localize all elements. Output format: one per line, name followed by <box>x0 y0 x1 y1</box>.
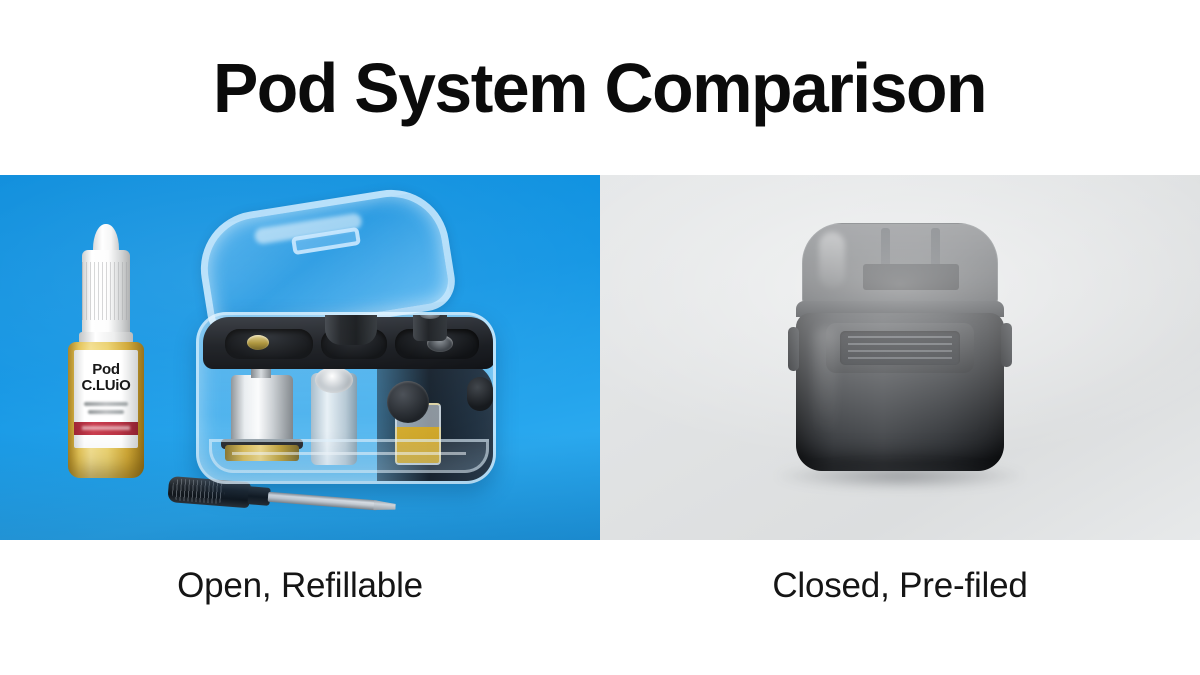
e-liquid-bottle: Pod C.LUiO <box>60 250 152 478</box>
bottle-label-warning-band <box>74 422 138 435</box>
panel-closed-prefiled <box>600 175 1200 540</box>
atomizer-top-cap <box>315 367 353 393</box>
title-bar: Pod System Comparison <box>0 0 1200 175</box>
side-button <box>467 377 493 411</box>
side-button-right <box>1001 323 1012 367</box>
fire-button <box>387 381 429 423</box>
pod-body-black <box>796 313 1004 471</box>
comparison-image-band: Pod C.LUiO <box>0 175 1200 540</box>
cap-inner-block <box>863 264 959 290</box>
caption-right: Closed, Pre-filed <box>600 540 1200 675</box>
caption-right-text: Closed, Pre-filed <box>772 566 1027 606</box>
caption-left: Open, Refillable <box>0 540 600 675</box>
secondary-post <box>413 312 447 341</box>
black-pod-device-closed <box>788 223 1012 475</box>
pod-system-comparison-slide: Pod System Comparison Pod C.LUiO <box>0 0 1200 675</box>
device-drop-shadow <box>775 463 1025 489</box>
pod-chassis-rail <box>209 439 489 473</box>
caption-row: Open, Refillable Closed, Pre-filed <box>0 540 1200 675</box>
bottle-label-fineprint-1 <box>84 402 128 406</box>
bottle-label-line-1: Pod <box>74 362 138 378</box>
mouthpiece-chimney <box>325 312 377 345</box>
side-button-left <box>788 327 799 371</box>
transparent-pod-device-open <box>196 216 496 484</box>
vent-grille <box>840 331 960 365</box>
screwdriver-shaft <box>268 492 378 511</box>
screwdriver-tip <box>373 500 396 512</box>
brass-contact-port <box>247 335 269 350</box>
panel-open-refillable: Pod C.LUiO <box>0 175 600 540</box>
pod-cavity-left <box>225 329 313 359</box>
bottle-label-fineprint-2 <box>88 410 124 414</box>
bottle-cap-ribs <box>82 262 130 320</box>
caption-left-text: Open, Refillable <box>177 566 423 606</box>
pod-body-transparent <box>196 312 496 484</box>
pod-smoked-cap <box>802 223 998 305</box>
bottle-label: Pod C.LUiO <box>74 350 138 448</box>
page-title: Pod System Comparison <box>213 53 986 123</box>
bottle-label-line-2: C.LUiO <box>74 378 138 394</box>
